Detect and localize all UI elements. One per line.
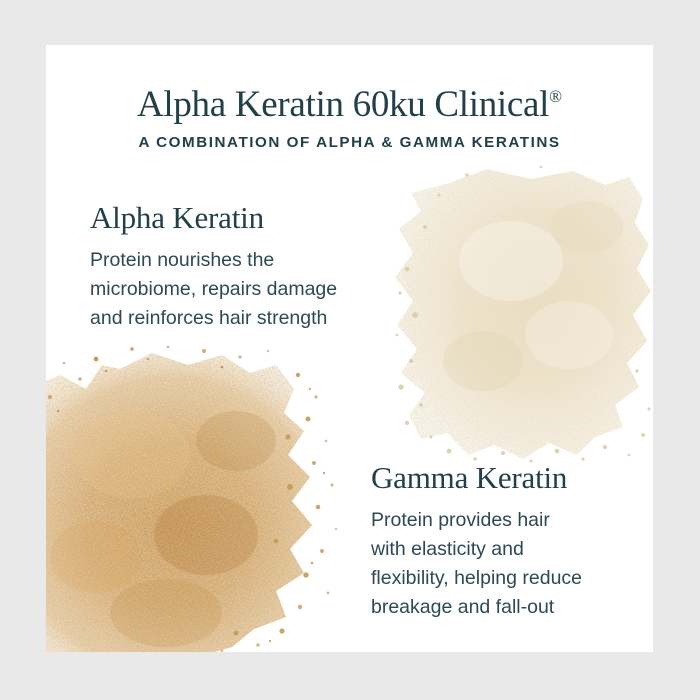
page-subtitle: A COMBINATION OF ALPHA & GAMMA KERATINS — [46, 134, 653, 151]
page-title: Alpha Keratin 60ku Clinical® — [46, 75, 653, 127]
alpha-description-line: microbiome, repairs damage — [90, 275, 337, 304]
gamma-keratin-description: Protein provides hair with elasticity an… — [371, 506, 582, 622]
gamma-description-line: with elasticity and — [371, 535, 582, 564]
text-content-layer: Alpha Keratin 60ku Clinical® A COMBINATI… — [46, 45, 653, 652]
gamma-keratin-heading: Gamma Keratin — [371, 460, 567, 496]
alpha-description-line: and reinforces hair strength — [90, 304, 337, 333]
registered-trademark-icon: ® — [549, 87, 562, 106]
gamma-description-line: breakage and fall-out — [371, 593, 582, 622]
alpha-description-line: Protein nourishes the — [90, 246, 337, 275]
title-main-text: Alpha Keratin 60ku Clinical — [137, 84, 549, 125]
alpha-keratin-description: Protein nourishes the microbiome, repair… — [90, 246, 337, 333]
product-card: Alpha Keratin 60ku Clinical® A COMBINATI… — [46, 45, 653, 652]
gamma-description-line: flexibility, helping reduce — [371, 564, 582, 593]
alpha-keratin-heading: Alpha Keratin — [90, 200, 264, 236]
gamma-description-line: Protein provides hair — [371, 506, 582, 535]
product-infographic: Alpha Keratin 60ku Clinical® A COMBINATI… — [0, 0, 700, 700]
